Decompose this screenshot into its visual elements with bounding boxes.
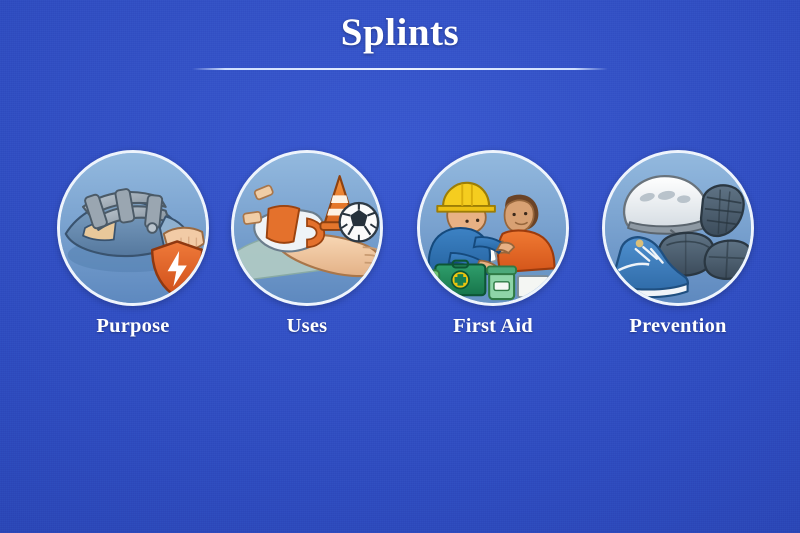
bubble-purpose[interactable] [57, 150, 209, 306]
page-title: Splints [0, 10, 800, 55]
card-purpose[interactable]: Purpose [57, 150, 209, 338]
card-prevention[interactable]: Prevention [602, 150, 754, 338]
first-aid-responder-icon [420, 153, 566, 303]
title-divider [192, 68, 608, 70]
bubble-uses[interactable] [231, 150, 383, 306]
protective-gear-icon [605, 153, 751, 303]
card-label-first-aid: First Aid [417, 315, 569, 338]
infographic-canvas: Splints [0, 0, 800, 533]
card-first-aid[interactable]: First Aid [417, 150, 569, 338]
bubble-prevention[interactable] [602, 150, 754, 306]
card-label-prevention: Prevention [602, 315, 754, 338]
card-uses[interactable]: Uses [231, 150, 383, 338]
wrist-splint-with-sports-gear-icon [234, 153, 380, 303]
splinted-leg-with-protection-shield-icon [60, 153, 206, 303]
card-label-purpose: Purpose [57, 315, 209, 338]
card-row: Purpose [0, 150, 800, 360]
card-label-uses: Uses [231, 315, 383, 338]
bubble-first-aid[interactable] [417, 150, 569, 306]
